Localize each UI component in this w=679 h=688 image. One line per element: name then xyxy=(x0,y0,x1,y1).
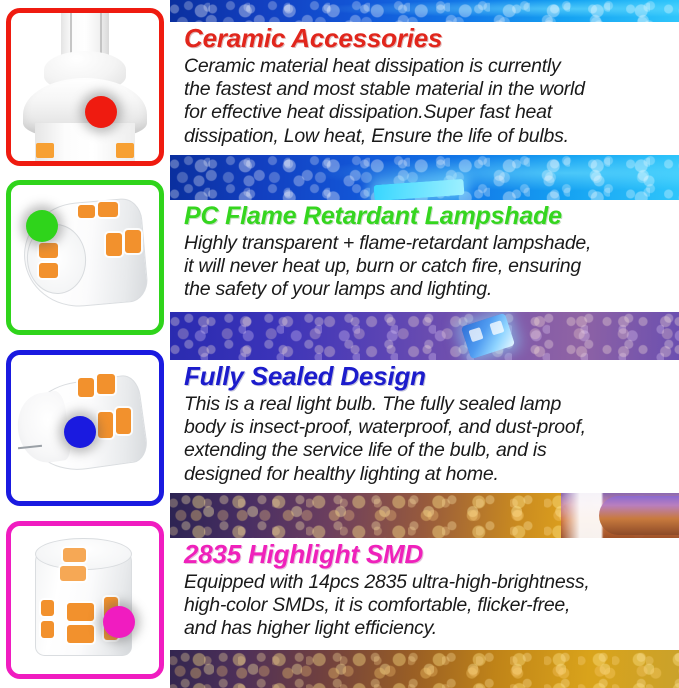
smd-chip xyxy=(125,230,141,253)
glowing-bulb-accent xyxy=(561,493,679,538)
heading-fully-sealed-design: Fully Sealed Design xyxy=(184,363,669,391)
strip-top xyxy=(170,0,679,22)
strip-bottom xyxy=(170,650,679,688)
marker-dot-magenta xyxy=(103,606,135,638)
stem-slit-right xyxy=(100,13,102,54)
marker-dot-green xyxy=(26,210,58,242)
thumbnail-column xyxy=(0,0,170,688)
texture-blue-violet-crystal xyxy=(170,312,679,360)
bulb-cap xyxy=(599,496,679,536)
body-line: Equipped with 14pcs 2835 ultra-high-brig… xyxy=(184,571,669,594)
thumbnail-fully-sealed-design[interactable] xyxy=(6,350,164,506)
smd-chip xyxy=(98,412,113,438)
body-line: high-color SMDs, it is comfortable, flic… xyxy=(184,594,669,617)
lampshade-photo xyxy=(11,185,159,330)
smd-chip xyxy=(60,566,87,581)
content-column: Ceramic Accessories Ceramic material hea… xyxy=(170,0,679,688)
body-line: This is a real light bulb. The fully sea… xyxy=(184,393,669,416)
heading-ceramic-accessories: Ceramic Accessories xyxy=(184,25,669,53)
body-line: dissipation, Low heat, Ensure the life o… xyxy=(184,125,669,148)
smd-chip xyxy=(63,548,87,561)
strip-between-3-4 xyxy=(170,493,679,538)
smd-chip xyxy=(106,233,122,256)
body-line: extending the service life of the bulb, … xyxy=(184,439,669,462)
infographic-page: Ceramic Accessories Ceramic material hea… xyxy=(0,0,679,688)
body-pc-flame-retardant-lampshade: Highly transparent + flame-retardant lam… xyxy=(184,232,669,302)
body-line: and has higher light efficiency. xyxy=(184,617,669,640)
smd-chip xyxy=(67,625,94,643)
body-2835-highlight-smd: Equipped with 14pcs 2835 ultra-high-brig… xyxy=(184,571,669,641)
body-line: Ceramic material heat dissipation is cur… xyxy=(184,55,669,78)
panel-2835-highlight-smd: 2835 Highlight SMD Equipped with 14pcs 2… xyxy=(170,538,679,650)
smd-chip xyxy=(41,621,54,639)
body-line: it will never heat up, burn or catch fir… xyxy=(184,255,669,278)
smd-chip xyxy=(116,143,134,158)
panel-pc-flame-retardant-lampshade: PC Flame Retardant Lampshade Highly tran… xyxy=(170,200,679,312)
smd-chip xyxy=(67,603,94,621)
smd-chip xyxy=(41,600,54,616)
strip-between-2-3 xyxy=(170,312,679,360)
texture-gold-violet-crystal xyxy=(170,650,679,688)
stem-slit-left xyxy=(70,13,72,54)
smd-chip xyxy=(97,374,115,394)
body-line: the safety of your lamps and lighting. xyxy=(184,278,669,301)
body-line: the fastest and most stable material in … xyxy=(184,78,669,101)
body-ceramic-accessories: Ceramic material heat dissipation is cur… xyxy=(184,55,669,149)
strip-between-1-2 xyxy=(170,155,679,200)
body-fully-sealed-design: This is a real light bulb. The fully sea… xyxy=(184,393,669,487)
marker-dot-red xyxy=(85,96,117,128)
smd-chip xyxy=(78,205,96,218)
ceramic-base-photo xyxy=(11,13,159,161)
texture-blue-crystal xyxy=(170,0,679,22)
thumbnail-pc-flame-retardant-lampshade[interactable] xyxy=(6,180,164,335)
panel-fully-sealed-design: Fully Sealed Design This is a real light… xyxy=(170,360,679,493)
smd-chip xyxy=(39,243,58,258)
sealed-bulb-photo xyxy=(11,355,159,501)
smd-chip xyxy=(39,263,58,278)
heading-2835-highlight-smd: 2835 Highlight SMD xyxy=(184,541,669,569)
smd-chip xyxy=(36,143,54,158)
body-line: designed for healthy lighting at home. xyxy=(184,463,669,486)
panel-ceramic-accessories: Ceramic Accessories Ceramic material hea… xyxy=(170,22,679,155)
smd-chip xyxy=(98,202,117,217)
body-line: for effective heat dissipation.Super fas… xyxy=(184,101,669,124)
body-line: Highly transparent + flame-retardant lam… xyxy=(184,232,669,255)
smd-chip xyxy=(78,378,94,397)
smd-chips-photo xyxy=(11,526,159,674)
heading-pc-flame-retardant-lampshade: PC Flame Retardant Lampshade xyxy=(184,203,669,230)
smd-chip xyxy=(116,408,131,434)
thumbnail-2835-highlight-smd[interactable] xyxy=(6,521,164,679)
body-line: body is insect-proof, waterproof, and du… xyxy=(184,416,669,439)
thumbnail-ceramic-accessories[interactable] xyxy=(6,8,164,166)
